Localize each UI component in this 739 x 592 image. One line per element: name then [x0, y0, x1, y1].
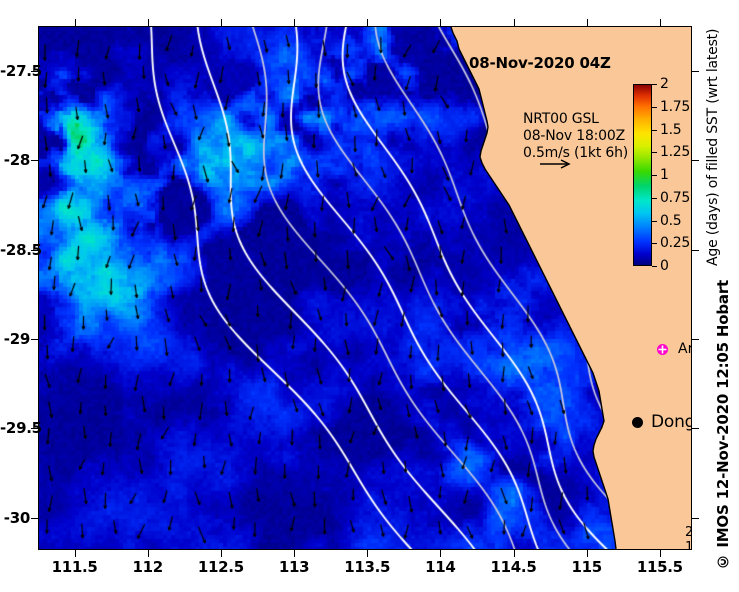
x-tick	[367, 19, 368, 26]
x-tick	[294, 19, 295, 26]
colorbar-tick-label: 0	[660, 258, 669, 274]
x-tick-label: 111.5	[40, 558, 110, 576]
x-tick	[148, 19, 149, 26]
gls-product: NRT00 GSL	[523, 111, 628, 128]
x-tick	[587, 19, 588, 26]
colorbar-tick-label: 1.5	[660, 122, 681, 138]
y-tick-label: -29.5	[0, 419, 30, 437]
colorbar-tick	[652, 152, 657, 153]
x-tick	[367, 550, 368, 557]
bathymetry-legend: 200m 1000m	[685, 525, 692, 550]
map-plot-area[interactable]: 08-Nov-2020 04Z NRT00 GSL 08-Nov 18:00Z …	[38, 26, 692, 550]
colorbar-tick	[652, 175, 657, 176]
x-tick	[587, 550, 588, 557]
right-arrow-icon	[539, 158, 573, 170]
colorbar-tick	[652, 221, 657, 222]
colorbar-tick-label: 1	[660, 167, 669, 183]
current-overlay-legend: NRT00 GSL 08-Nov 18:00Z 0.5m/s (1kt 6h)	[523, 111, 628, 162]
gls-time: 08-Nov 18:00Z	[523, 128, 628, 145]
y-tick	[31, 518, 38, 519]
y-tick	[31, 339, 38, 340]
colorbar-tick	[652, 243, 657, 244]
x-tick	[514, 19, 515, 26]
bathy-1000m-label: 1000m	[685, 540, 692, 550]
x-tick-label: 114.5	[479, 558, 549, 576]
colorbar-tick	[652, 107, 657, 108]
y-tick-label: -28	[0, 151, 30, 169]
map-datestamp: 08-Nov-2020 04Z	[469, 54, 611, 72]
colorbar-tick	[652, 130, 657, 131]
y-tick-label: -27.5	[0, 62, 30, 80]
colorbar-tick-label: 2	[660, 76, 669, 92]
x-tick	[660, 550, 661, 557]
y-tick	[692, 339, 699, 340]
x-tick-label: 115	[552, 558, 622, 576]
land-mass-overlay	[39, 27, 691, 549]
argo-legend-entry: Argo	[656, 341, 692, 357]
x-tick	[75, 19, 76, 26]
colorbar-tick	[652, 266, 657, 267]
colorbar-tick-label: 0.75	[660, 190, 690, 206]
y-tick-label: -30	[0, 509, 30, 527]
y-tick	[692, 518, 699, 519]
coastline-land	[451, 27, 691, 549]
bathy-200m-label: 200m	[685, 525, 692, 540]
credit-text: © IMOS 12-Nov-2020 12:05 Hobart	[714, 280, 732, 571]
colorbar-tick	[652, 198, 657, 199]
x-tick-label: 113	[259, 558, 329, 576]
y-tick	[692, 71, 699, 72]
figure-canvas: 08-Nov-2020 04Z NRT00 GSL 08-Nov 18:00Z …	[0, 0, 739, 592]
y-tick	[31, 160, 38, 161]
x-tick-label: 114	[405, 558, 475, 576]
dongara-marker-entry: Dongara	[631, 412, 692, 432]
x-tick-label: 112	[113, 558, 183, 576]
x-tick	[440, 19, 441, 26]
dongara-marker-icon	[631, 416, 644, 429]
argo-marker-icon	[656, 343, 669, 356]
x-tick	[75, 550, 76, 557]
dongara-label: Dongara	[651, 412, 692, 432]
x-tick-label: 113.5	[332, 558, 402, 576]
x-tick	[294, 550, 295, 557]
x-tick-label: 115.5	[625, 558, 695, 576]
colorbar-tick	[652, 84, 657, 85]
argo-label: Argo	[678, 341, 692, 357]
colorbar-tick-label: 0.5	[660, 213, 681, 229]
x-tick	[221, 19, 222, 26]
colorbar-tick-label: 0.25	[660, 235, 690, 251]
x-tick	[514, 550, 515, 557]
x-tick	[660, 19, 661, 26]
y-tick-label: -29	[0, 330, 30, 348]
x-tick	[221, 550, 222, 557]
x-tick-label: 112.5	[186, 558, 256, 576]
y-tick	[692, 428, 699, 429]
x-tick	[440, 550, 441, 557]
colorbar-title: Age (days) of filled SST (wrt latest)	[705, 84, 721, 266]
colorbar-tick-label: 1.25	[660, 144, 690, 160]
x-tick	[148, 550, 149, 557]
y-tick	[692, 160, 699, 161]
colorbar-tick-label: 1.75	[660, 99, 690, 115]
colorbar-gradient	[633, 84, 652, 266]
y-tick-label: -28.5	[0, 241, 30, 259]
y-tick	[692, 250, 699, 251]
